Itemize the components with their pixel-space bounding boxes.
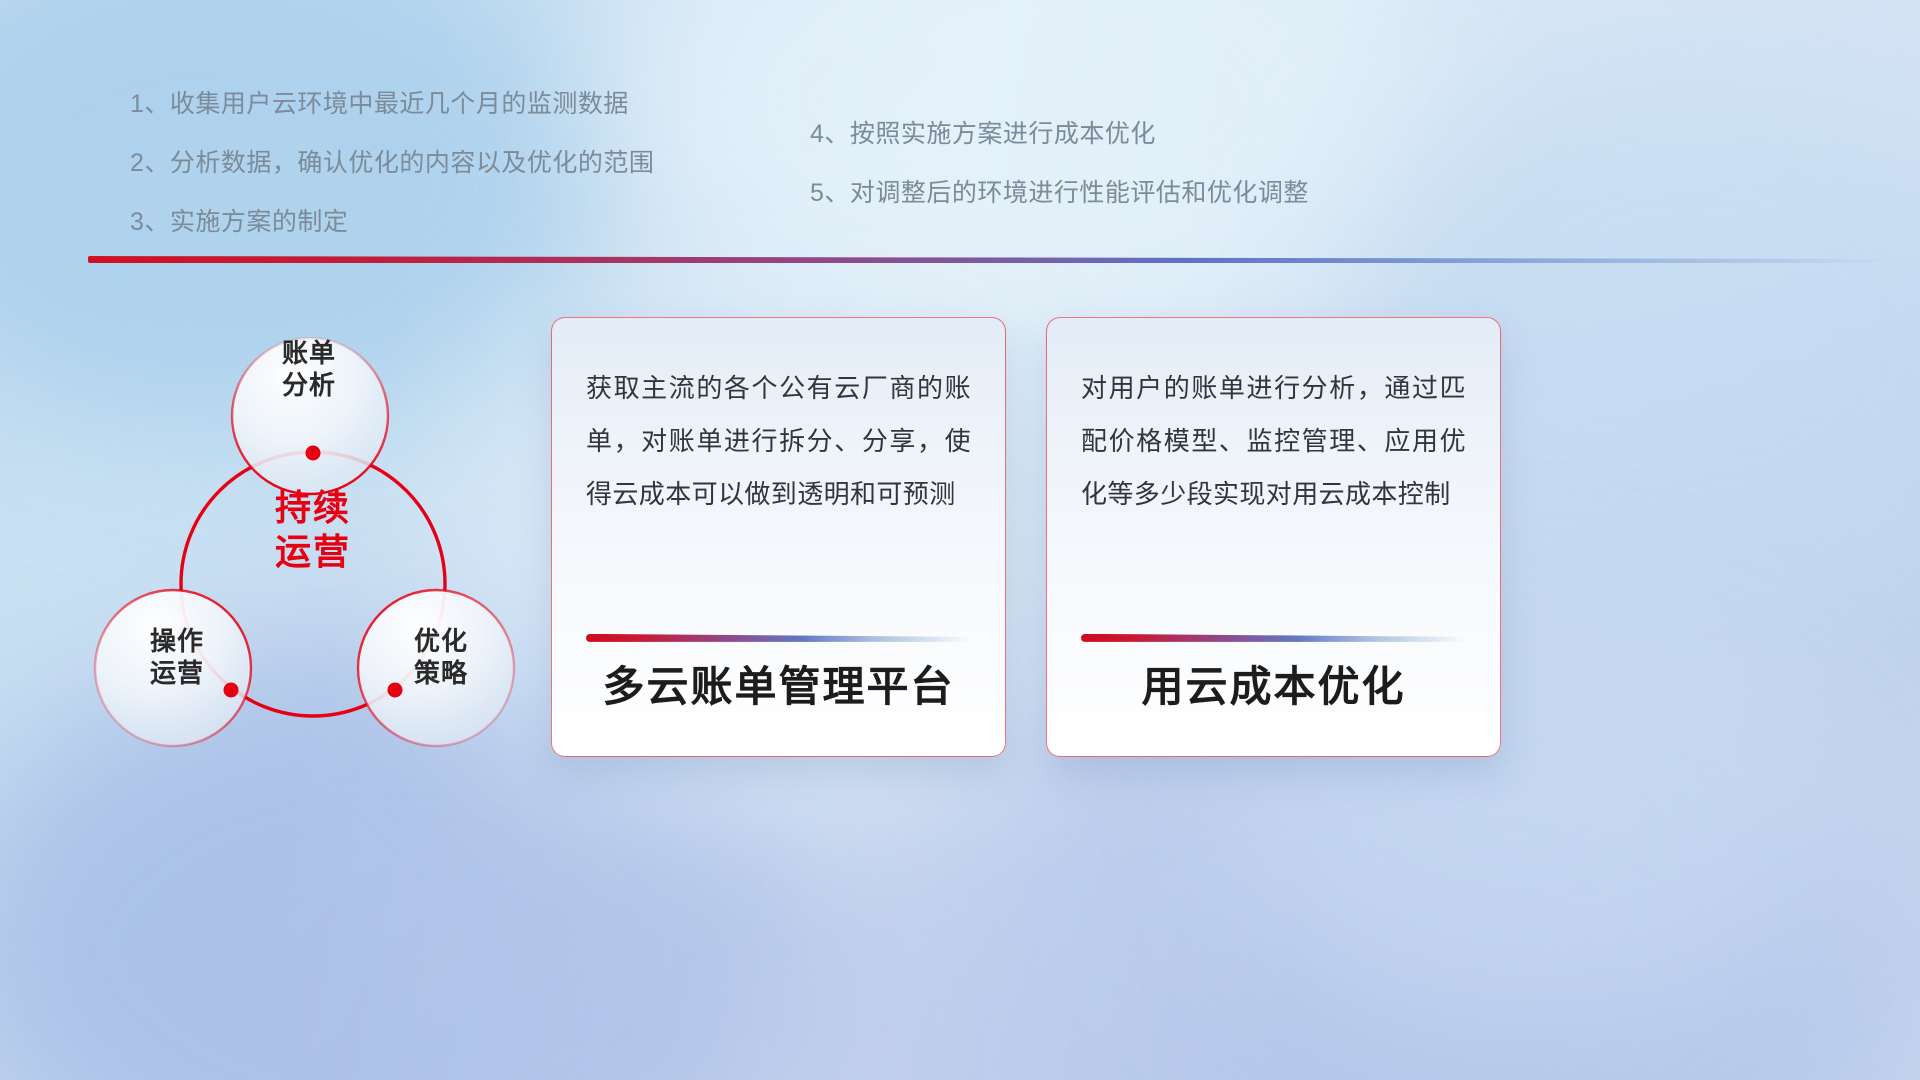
venn-label-center: 持续 运营 xyxy=(238,486,388,574)
venn-label-top-line1: 账单 xyxy=(234,338,384,370)
step-item-1: 1、收集用户云环境中最近几个月的监测数据 xyxy=(130,92,850,117)
venn-node-dot-top xyxy=(306,446,321,461)
info-card-accent-rule xyxy=(1081,634,1466,642)
steps-list-left: 1、收集用户云环境中最近几个月的监测数据 2、分析数据，确认优化的内容以及优化的… xyxy=(130,92,850,269)
info-card-body: 获取主流的各个公有云厂商的账单，对账单进行拆分、分享，使得云成本可以做到透明和可… xyxy=(586,362,971,521)
venn-label-right-line2: 策略 xyxy=(366,658,516,690)
step-item-3: 3、实施方案的制定 xyxy=(130,210,850,235)
venn-label-left-line1: 操作 xyxy=(102,626,252,658)
info-card-title: 多云账单管理平台 xyxy=(586,664,971,726)
venn-label-center-line1: 持续 xyxy=(238,486,388,530)
steps-list-right: 4、按照实施方案进行成本优化 5、对调整后的环境进行性能评估和优化调整 xyxy=(810,122,1510,240)
step-item-4: 4、按照实施方案进行成本优化 xyxy=(810,122,1510,147)
step-item-2: 2、分析数据，确认优化的内容以及优化的范围 xyxy=(130,151,850,176)
venn-label-right-line1: 优化 xyxy=(366,626,516,658)
venn-label-right: 优化 策略 xyxy=(366,626,516,689)
venn-label-top-line2: 分析 xyxy=(234,370,384,402)
info-card-title: 用云成本优化 xyxy=(1081,664,1466,726)
info-card-accent-rule xyxy=(586,634,971,642)
info-card-body: 对用户的账单进行分析，通过匹配价格模型、监控管理、应用优化等多少段实现对用云成本… xyxy=(1081,362,1466,521)
venn-label-left-line2: 运营 xyxy=(102,658,252,690)
venn-label-left: 操作 运营 xyxy=(102,626,252,689)
step-item-5: 5、对调整后的环境进行性能评估和优化调整 xyxy=(810,181,1510,206)
venn-label-top: 账单 分析 xyxy=(234,338,384,401)
venn-label-center-line2: 运营 xyxy=(238,530,388,574)
info-card-billing-platform[interactable]: 获取主流的各个公有云厂商的账单，对账单进行拆分、分享，使得云成本可以做到透明和可… xyxy=(551,317,1006,757)
info-card-cost-optimization[interactable]: 对用户的账单进行分析，通过匹配价格模型、监控管理、应用优化等多少段实现对用云成本… xyxy=(1046,317,1501,757)
venn-diagram: 账单 分析 操作 运营 优化 策略 持续 运营 xyxy=(88,296,558,766)
